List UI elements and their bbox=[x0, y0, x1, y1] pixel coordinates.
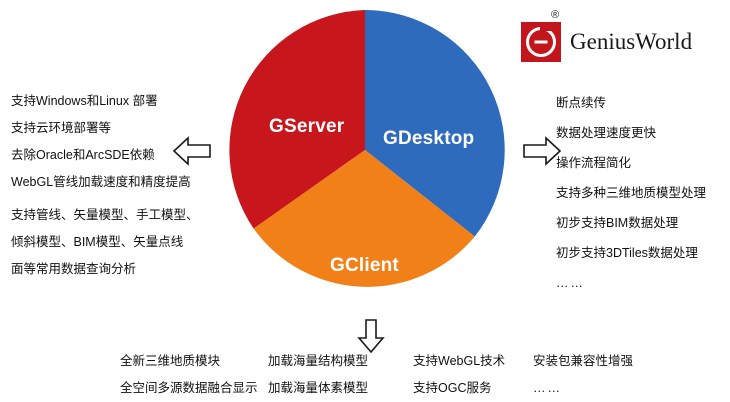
brand-name: GeniusWorld bbox=[570, 29, 692, 55]
bottom-c4-item-2: …… bbox=[533, 375, 673, 402]
bottom-c3-item-1: 支持WebGL技术 bbox=[413, 348, 533, 375]
bottom-feature-lists: 全新三维地质模块 全空间多源数据融合显示 加载海量结构模型 加载海量体素模型 支… bbox=[120, 348, 720, 402]
bottom-c1-item-2: 全空间多源数据融合显示 bbox=[120, 375, 268, 402]
left-item-6: 倾斜模型、BIM模型、矢量点线 bbox=[11, 229, 216, 256]
left-item-7: 面等常用数据查询分析 bbox=[11, 256, 216, 283]
left-item-2: 支持云环境部署等 bbox=[11, 115, 216, 142]
right-item-6: 初步支持3DTiles数据处理 bbox=[556, 238, 728, 268]
left-item-5: 支持管线、矢量模型、手工模型、 bbox=[11, 202, 216, 229]
left-item-3: 去除Oracle和ArcSDE依赖 bbox=[11, 142, 216, 169]
bottom-column-2: 加载海量结构模型 加载海量体素模型 bbox=[268, 348, 413, 402]
left-item-1: 支持Windows和Linux 部署 bbox=[11, 88, 216, 115]
left-item-4: WebGL管线加载速度和精度提高 bbox=[11, 169, 216, 196]
bottom-c1-item-1: 全新三维地质模块 bbox=[120, 348, 268, 375]
bottom-c3-item-2: 支持OGC服务 bbox=[413, 375, 533, 402]
bottom-column-1: 全新三维地质模块 全空间多源数据融合显示 bbox=[120, 348, 268, 402]
right-item-1: 断点续传 bbox=[556, 88, 728, 118]
pie-chart: GServer GDesktop GClient bbox=[223, 8, 507, 292]
bottom-column-4: 安装包兼容性增强 …… bbox=[533, 348, 673, 402]
right-item-7: …… bbox=[556, 268, 728, 298]
right-item-3: 操作流程简化 bbox=[556, 148, 728, 178]
bottom-c2-item-1: 加载海量结构模型 bbox=[268, 348, 413, 375]
genius-world-logo-icon: ® bbox=[521, 22, 561, 62]
pie-svg bbox=[223, 8, 507, 292]
registered-mark-icon: ® bbox=[551, 9, 559, 21]
right-item-5: 初步支持BIM数据处理 bbox=[556, 208, 728, 238]
pie-label-gserver: GServer bbox=[269, 116, 344, 138]
right-item-4: 支持多种三维地质模型处理 bbox=[556, 178, 728, 208]
left-feature-list: 支持Windows和Linux 部署 支持云环境部署等 去除Oracle和Arc… bbox=[11, 88, 216, 283]
pie-label-gclient: GClient bbox=[330, 255, 399, 277]
pie-label-gdesktop: GDesktop bbox=[383, 128, 474, 150]
bottom-column-3: 支持WebGL技术 支持OGC服务 bbox=[413, 348, 533, 402]
bottom-c4-item-1: 安装包兼容性增强 bbox=[533, 348, 673, 375]
bottom-c2-item-2: 加载海量体素模型 bbox=[268, 375, 413, 402]
right-feature-list: 断点续传 数据处理速度更快 操作流程简化 支持多种三维地质模型处理 初步支持BI… bbox=[556, 88, 728, 298]
brand-logo: ® GeniusWorld bbox=[521, 22, 692, 62]
diagram-canvas: GServer GDesktop GClient ® GeniusWorld 支… bbox=[0, 0, 730, 400]
right-item-2: 数据处理速度更快 bbox=[556, 118, 728, 148]
